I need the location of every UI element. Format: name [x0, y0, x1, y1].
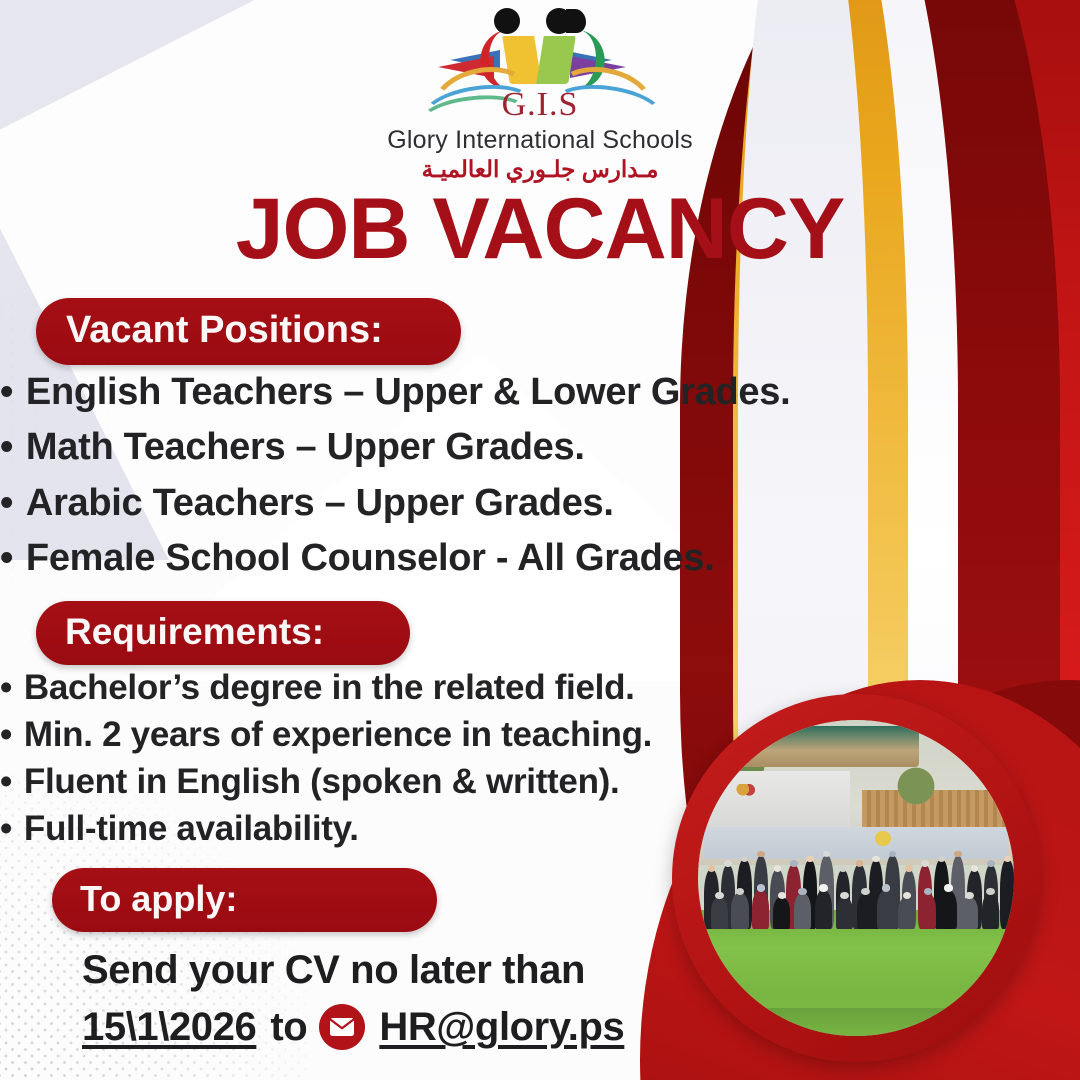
- photo-person-front: [982, 893, 999, 928]
- photo-person-front: [794, 893, 811, 928]
- hr-email-address[interactable]: HR@glory.ps: [379, 1003, 624, 1051]
- photo-person-front-head: [965, 892, 974, 899]
- photo-person-head: [856, 860, 864, 867]
- logo-mark-icon: G.I.S: [420, 6, 660, 124]
- job-vacancy-poster: G.I.S Glory International Schools مـدارس…: [0, 0, 1080, 1080]
- staff-photo-ring: [672, 694, 1040, 1062]
- application-deadline: 15\1\2026: [82, 1003, 256, 1051]
- photo-person-head: [905, 865, 913, 872]
- section-header-requirements: Requirements:: [36, 601, 410, 665]
- list-item-label: Min. 2 years of experience in teaching.: [24, 712, 652, 759]
- photo-person-head: [921, 860, 929, 867]
- photo-person-front-head: [757, 884, 766, 891]
- list-item-label: Full-time availability.: [24, 806, 359, 853]
- photo-person-front-head: [840, 892, 849, 899]
- photo-person-front: [711, 897, 728, 928]
- list-item: • Female School Counselor - All Grades.: [0, 531, 1080, 586]
- list-item-label: Female School Counselor - All Grades.: [26, 531, 715, 586]
- section-header-to-apply: To apply:: [52, 868, 437, 932]
- bullet-icon: •: [0, 539, 13, 577]
- list-item-label: Bachelor’s degree in the related field.: [24, 665, 635, 712]
- bullet-icon: •: [0, 373, 13, 411]
- list-item-label: Fluent in English (spoken & written).: [24, 759, 620, 806]
- page-title: JOB VACANCY: [0, 186, 1080, 272]
- photo-person-front: [773, 897, 790, 928]
- photo-person-head: [839, 865, 847, 872]
- photo-person-front-head: [715, 892, 724, 899]
- logo-hair-right: [566, 9, 586, 33]
- list-item: • Math Teachers – Upper Grades.: [0, 420, 1080, 475]
- logo-head-left: [494, 8, 520, 34]
- photo-person-front-head: [944, 884, 953, 891]
- staff-group-photo: [698, 720, 1014, 1036]
- photo-grass-field: [698, 910, 1014, 1036]
- bullet-icon: •: [0, 764, 12, 799]
- photo-person-front: [919, 893, 936, 928]
- list-item: • English Teachers – Upper & Lower Grade…: [0, 365, 1080, 420]
- photo-person-front: [898, 897, 915, 928]
- photo-person-head: [757, 851, 765, 858]
- logo-initials: G.I.S: [420, 86, 660, 124]
- list-item-label: Math Teachers – Upper Grades.: [26, 420, 585, 475]
- photo-person-head: [806, 856, 814, 863]
- photo-person-front: [940, 890, 957, 929]
- bullet-icon: •: [0, 811, 12, 846]
- photo-person-front: [731, 893, 748, 928]
- bullet-icon: •: [0, 428, 13, 466]
- photo-person-head: [790, 860, 798, 867]
- photo-person-front: [752, 890, 769, 929]
- vacant-positions-list: • English Teachers – Upper & Lower Grade…: [0, 365, 1080, 587]
- photo-person-front: [877, 890, 894, 929]
- list-item: • Arabic Teachers – Upper Grades.: [0, 476, 1080, 531]
- photo-backdrop-banner: [704, 771, 849, 834]
- photo-person-front: [857, 893, 874, 928]
- photo-person-front: [961, 897, 978, 928]
- apply-connector: to: [270, 1003, 307, 1051]
- list-item-label: Arabic Teachers – Upper Grades.: [26, 476, 614, 531]
- bullet-icon: •: [0, 670, 12, 705]
- photo-grass-shadow: [698, 1008, 1014, 1036]
- school-name-arabic: مـدارس جلـوري العالميـة: [422, 156, 659, 183]
- school-logo: G.I.S Glory International Schools مـدارس…: [0, 6, 1080, 183]
- photo-canopy: [711, 726, 920, 767]
- photo-person-head: [987, 860, 995, 867]
- photo-person-head: [971, 865, 979, 872]
- photo-person: [1000, 860, 1014, 928]
- section-header-vacant-positions: Vacant Positions:: [36, 298, 461, 365]
- envelope-icon: [319, 1004, 365, 1050]
- photo-person-front: [836, 897, 853, 928]
- photo-person-head: [724, 860, 732, 867]
- bullet-icon: •: [0, 484, 13, 522]
- photo-person-front: [815, 890, 832, 929]
- photo-person-head: [774, 865, 782, 872]
- photo-person-front-head: [819, 884, 828, 891]
- photo-person-front-head: [861, 888, 870, 895]
- photo-person-head: [872, 856, 880, 863]
- photo-banner-logo-icon: [730, 784, 762, 797]
- photo-person-front-head: [882, 884, 891, 891]
- photo-person-head: [708, 865, 716, 872]
- photo-people-group: [698, 834, 1014, 929]
- photo-tree-right: [894, 764, 938, 808]
- list-item-label: English Teachers – Upper & Lower Grades.: [26, 365, 790, 420]
- bullet-icon: •: [0, 717, 12, 752]
